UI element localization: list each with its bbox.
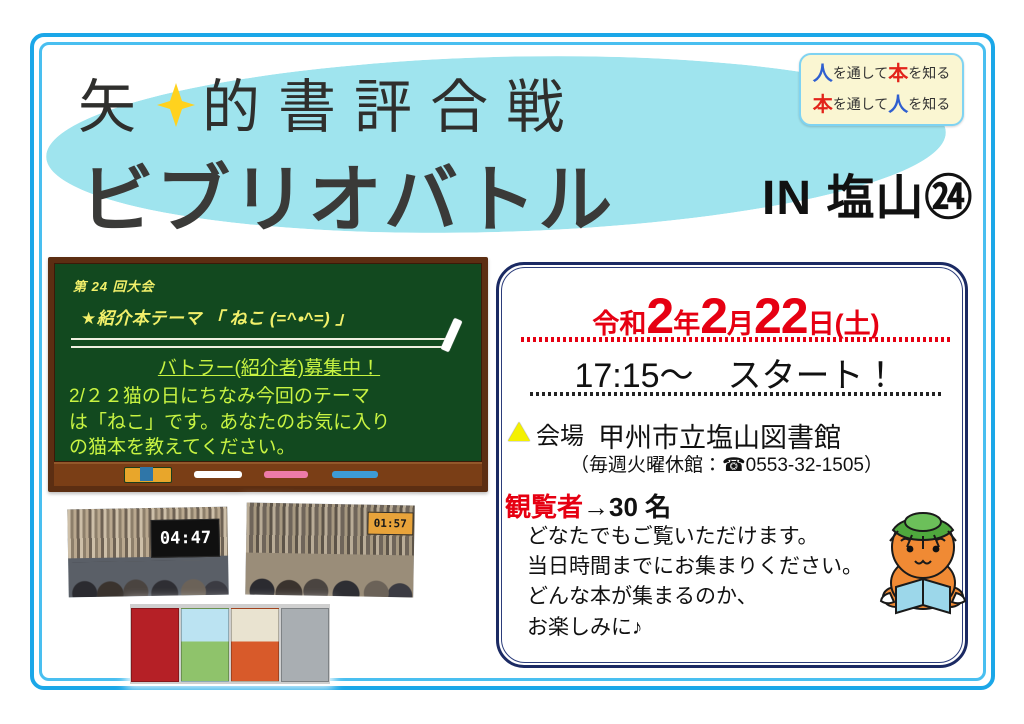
motto-line-2: 本を通して人を知る xyxy=(813,90,951,121)
blackboard-body-line-1: は「ねこ」です。あなたのお気に入り xyxy=(69,410,469,435)
title-line-2: ビブリオバトル xyxy=(80,140,614,247)
motto-2-mid: を通して xyxy=(833,96,889,112)
yellow-triangle-icon xyxy=(508,422,530,441)
chalk-stick-icon xyxy=(440,318,462,353)
motto-2-person: 人 xyxy=(888,94,908,116)
date-wavy-underline xyxy=(521,337,953,342)
date-day-unit: 日 xyxy=(808,309,835,339)
title1-char-2: 書 xyxy=(278,60,354,144)
blackboard-body-line-2: の猫本を教えてください。 xyxy=(69,435,469,460)
motto-2-book: 本 xyxy=(813,94,833,116)
audience-line-0: どなたでもご覧いただけます。 xyxy=(527,522,887,552)
chalk-white-icon xyxy=(194,471,242,478)
blackboard-theme: ★紹介本テーマ 「 ねこ (=^・^=) 」 xyxy=(81,304,353,329)
chalk-pink-icon xyxy=(264,471,308,478)
library-presentation-photo: 04:47 xyxy=(67,507,229,598)
date-weekday: (土) xyxy=(835,309,880,339)
photo-collage: 04:47 01:57 xyxy=(50,500,490,690)
book-cover xyxy=(131,608,179,682)
book-cover-row xyxy=(130,604,330,684)
blackboard-body-line-0: 2/２２猫の日にちなみ今回のテーマ xyxy=(69,384,469,409)
date-month-unit: 月 xyxy=(727,309,754,339)
blackboard-underline xyxy=(71,338,451,348)
library-audience-photo: 01:57 xyxy=(245,503,415,598)
timer-display: 04:47 xyxy=(151,519,221,557)
title-line-1: 矢 的 書 評 合 戦 xyxy=(78,62,778,142)
book-cover xyxy=(181,608,229,682)
blackboard-eraser-icon xyxy=(124,467,172,483)
blackboard-body: バトラー(紹介者)募集中！ 2/２２猫の日にちなみ今回のテーマ は「ねこ」です。… xyxy=(69,356,469,460)
poster-canvas: 矢 的 書 評 合 戦 ビブリオバトル IN 塩山㉔ 人を通して本を知る 本を通… xyxy=(0,0,1024,724)
date-era: 令和 xyxy=(592,309,646,339)
audience-line-3: お楽しみに♪ xyxy=(527,613,887,643)
date-day: 22 xyxy=(754,288,808,344)
motto-2-post: を知る xyxy=(908,96,950,112)
audience-heads xyxy=(245,558,414,598)
time-wavy-underline xyxy=(530,392,942,396)
title1-char-4: 合 xyxy=(430,60,506,144)
audience-label: 観覧者 xyxy=(505,492,583,522)
audience-heading: 観覧者→30 名 xyxy=(505,487,671,524)
motto-1-post: を知る xyxy=(908,65,950,81)
audience-line-1: 当日時間までにお集まりください。 xyxy=(527,552,887,582)
book-cover xyxy=(231,608,279,682)
title1-char-0: 矢 xyxy=(78,60,154,144)
venue-label: 会場 xyxy=(536,416,584,451)
book-cover xyxy=(281,608,329,682)
chalk-blue-icon xyxy=(332,471,378,478)
motto-badge: 人を通して本を知る 本を通して人を知る xyxy=(799,53,964,126)
motto-1-book: 本 xyxy=(888,63,908,85)
book-covers-photo xyxy=(130,604,330,684)
blackboard-subtitle: 第 24 回大会 xyxy=(73,276,155,295)
audience-line-2: どんな本が集まるのか、 xyxy=(527,582,887,612)
chalk-tray xyxy=(54,462,482,486)
motto-1-person: 人 xyxy=(813,63,833,85)
date-year-unit: 年 xyxy=(673,309,700,339)
date-month: 2 xyxy=(700,288,727,344)
audience-count: 30 名 xyxy=(609,492,671,522)
audience-heads xyxy=(68,559,229,597)
title1-char-5: 戦 xyxy=(506,60,582,144)
blackboard: 第 24 回大会 ★紹介本テーマ 「 ねこ (=^・^=) 」 バトラー(紹介者… xyxy=(48,257,488,492)
blackboard-surface: 第 24 回大会 ★紹介本テーマ 「 ねこ (=^・^=) 」 バトラー(紹介者… xyxy=(54,263,482,462)
sparkle-star-icon xyxy=(156,75,196,121)
title-line-2-suffix: IN 塩山㉔ xyxy=(762,158,973,228)
persimmon-mascot-reading-book xyxy=(868,505,978,625)
event-start-time: 17:15～ スタート！ xyxy=(516,348,956,397)
motto-line-1: 人を通して本を知る xyxy=(813,59,951,90)
title1-char-1: 的 xyxy=(202,60,278,144)
audience-description: どなたでもご覧いただけます。 当日時間までにお集まりください。 どんな本が集まる… xyxy=(527,522,887,643)
venue-note: （毎週火曜休館：☎0553-32-1505） xyxy=(570,450,883,477)
audience-arrow-icon: → xyxy=(583,492,609,522)
motto-1-mid: を通して xyxy=(833,65,889,81)
date-year: 2 xyxy=(646,288,673,344)
title1-char-3: 評 xyxy=(354,60,430,144)
blackboard-highlight: バトラー(紹介者)募集中！ xyxy=(69,356,469,381)
timer-display: 01:57 xyxy=(367,512,413,535)
